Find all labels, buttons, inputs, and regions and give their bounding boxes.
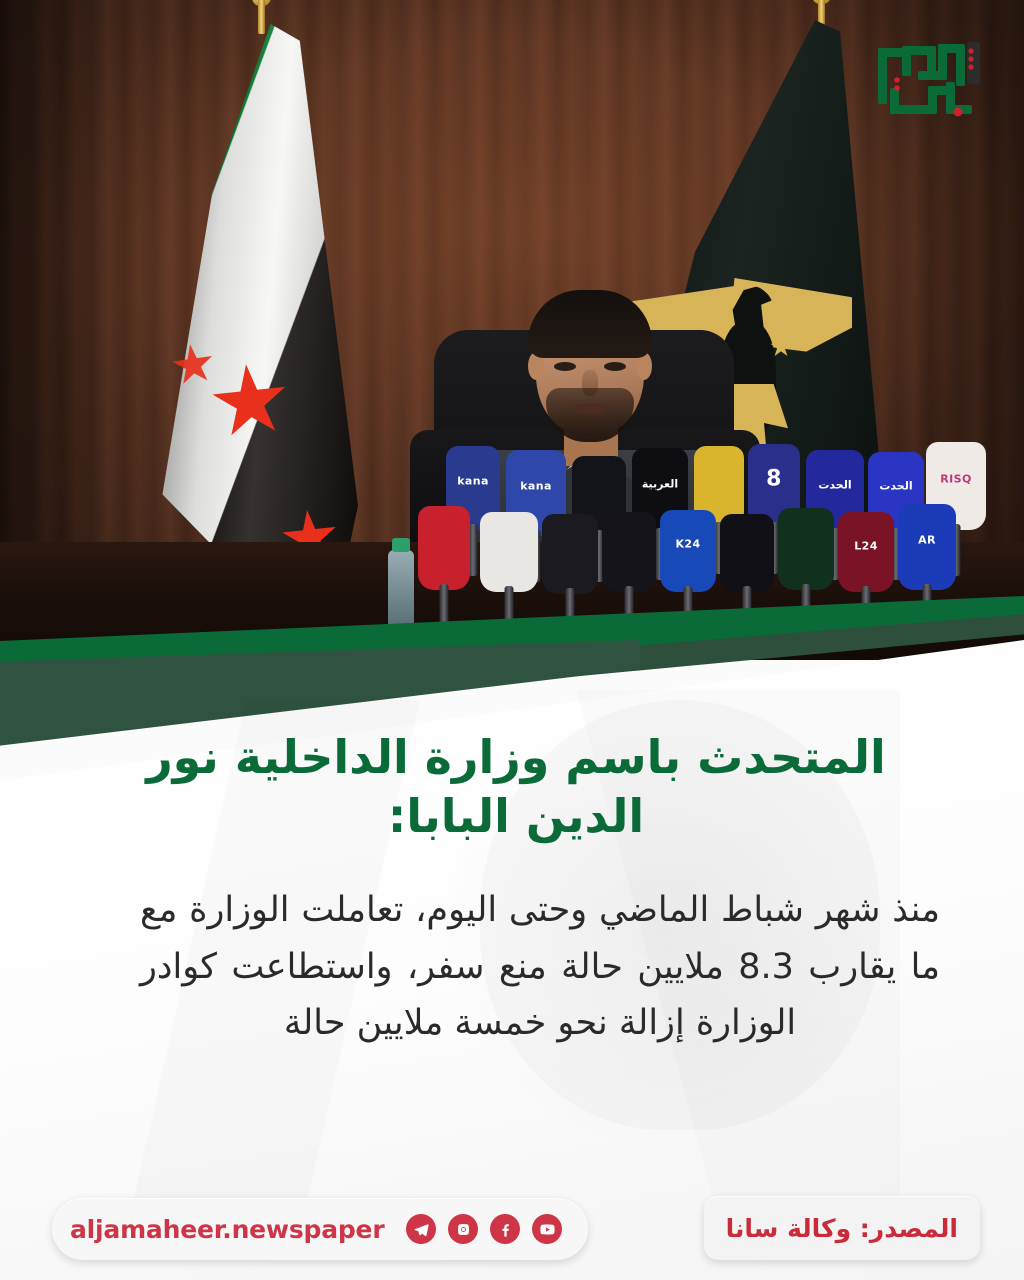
microphone: AR — [898, 504, 956, 590]
press-conference-photo: kana kana العربية 8 الحدت الحدت — [0, 0, 1024, 660]
bottle-cap — [392, 538, 410, 552]
hair — [528, 290, 652, 358]
aljamaheer-logo — [872, 30, 996, 126]
microphone — [602, 512, 656, 592]
microphone-label: AR — [918, 534, 936, 547]
microphone-label: العربية — [642, 478, 678, 491]
facebook-icon[interactable] — [490, 1214, 520, 1244]
microphone — [542, 514, 598, 594]
social-handle-text: aljamaheer.newspaper — [70, 1215, 384, 1244]
microphone-label: L24 — [854, 539, 878, 552]
source-badge: المصدر: وكالة سانا — [704, 1196, 980, 1260]
microphone-label: kana — [457, 475, 489, 488]
microphone — [778, 508, 834, 590]
mouth — [576, 404, 606, 413]
microphone-label: RISQ — [940, 472, 971, 485]
eye-right — [604, 362, 626, 371]
social-handle-bar[interactable]: aljamaheer.newspaper — [52, 1198, 588, 1260]
telegram-icon[interactable] — [406, 1214, 436, 1244]
page-title: المتحدث باسم وزارة الداخلية نور الدين ال… — [110, 728, 922, 846]
instagram-icon[interactable] — [448, 1214, 478, 1244]
microphone: L24 — [838, 512, 894, 592]
water-bottle — [388, 550, 414, 628]
microphone-label: الحدت — [818, 479, 851, 492]
eyebrow-left — [550, 350, 578, 357]
microphone — [720, 514, 774, 592]
youtube-icon[interactable] — [532, 1214, 562, 1244]
microphone-label: 8 — [766, 467, 782, 492]
microphone-label: kana — [520, 480, 552, 493]
news-card: kana kana العربية 8 الحدت الحدت — [0, 0, 1024, 1280]
eye-left — [554, 362, 576, 371]
microphone-label: الحدت — [879, 480, 912, 493]
microphone — [418, 506, 470, 590]
eyebrow-right — [600, 350, 628, 357]
flag-pole — [258, 0, 265, 34]
microphone: K24 — [660, 510, 716, 592]
microphone-label: K24 — [675, 538, 700, 551]
microphone — [480, 512, 538, 592]
quote-body-text: منذ شهر شباط الماضي وحتى اليوم، تعاملت ا… — [140, 882, 940, 1052]
